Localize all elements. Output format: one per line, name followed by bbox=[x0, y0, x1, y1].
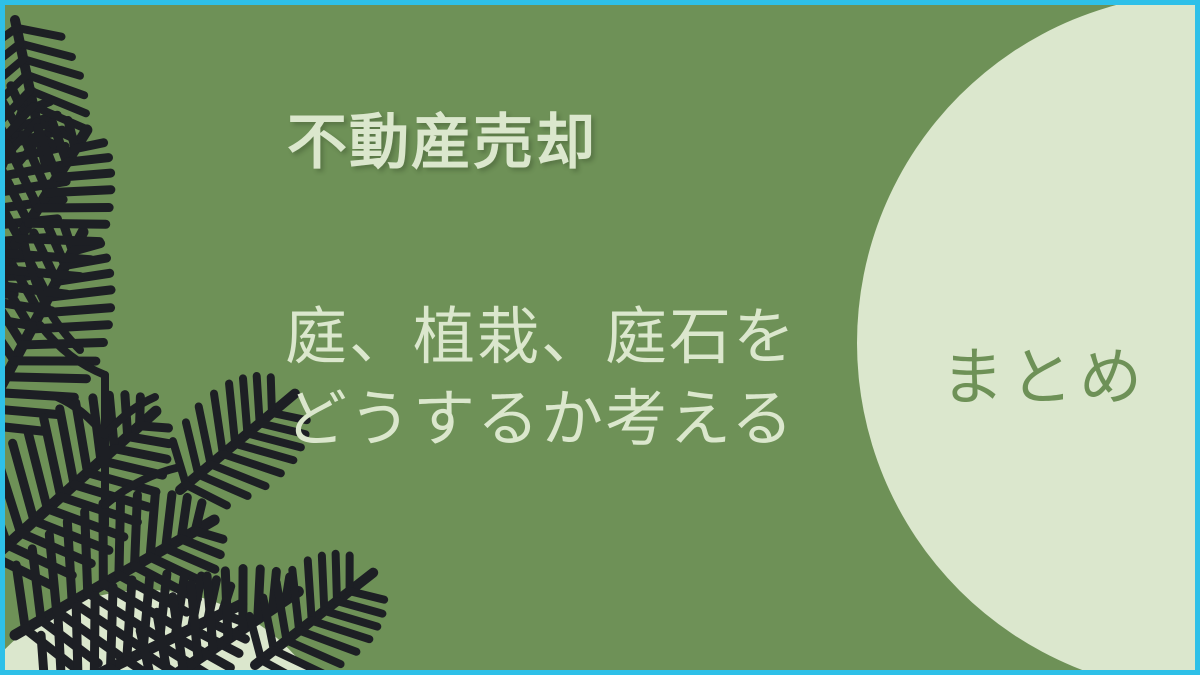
summary-badge-label: まとめ bbox=[941, 344, 1148, 413]
headline-line-1: 庭、植栽、庭石を bbox=[285, 297, 797, 379]
headline-line-2: どうするか考える bbox=[285, 379, 797, 461]
category-label: 不動産売却 bbox=[287, 108, 597, 177]
right-decorative-circle bbox=[857, 5, 1195, 670]
slide-canvas: 不動産売却 庭、植栽、庭石を どうするか考える まとめ bbox=[0, 0, 1200, 675]
slide-inner-frame: 不動産売却 庭、植栽、庭石を どうするか考える まとめ bbox=[5, 5, 1195, 670]
bottom-left-decorative-circle bbox=[5, 590, 347, 670]
headline: 庭、植栽、庭石を どうするか考える bbox=[285, 297, 797, 461]
